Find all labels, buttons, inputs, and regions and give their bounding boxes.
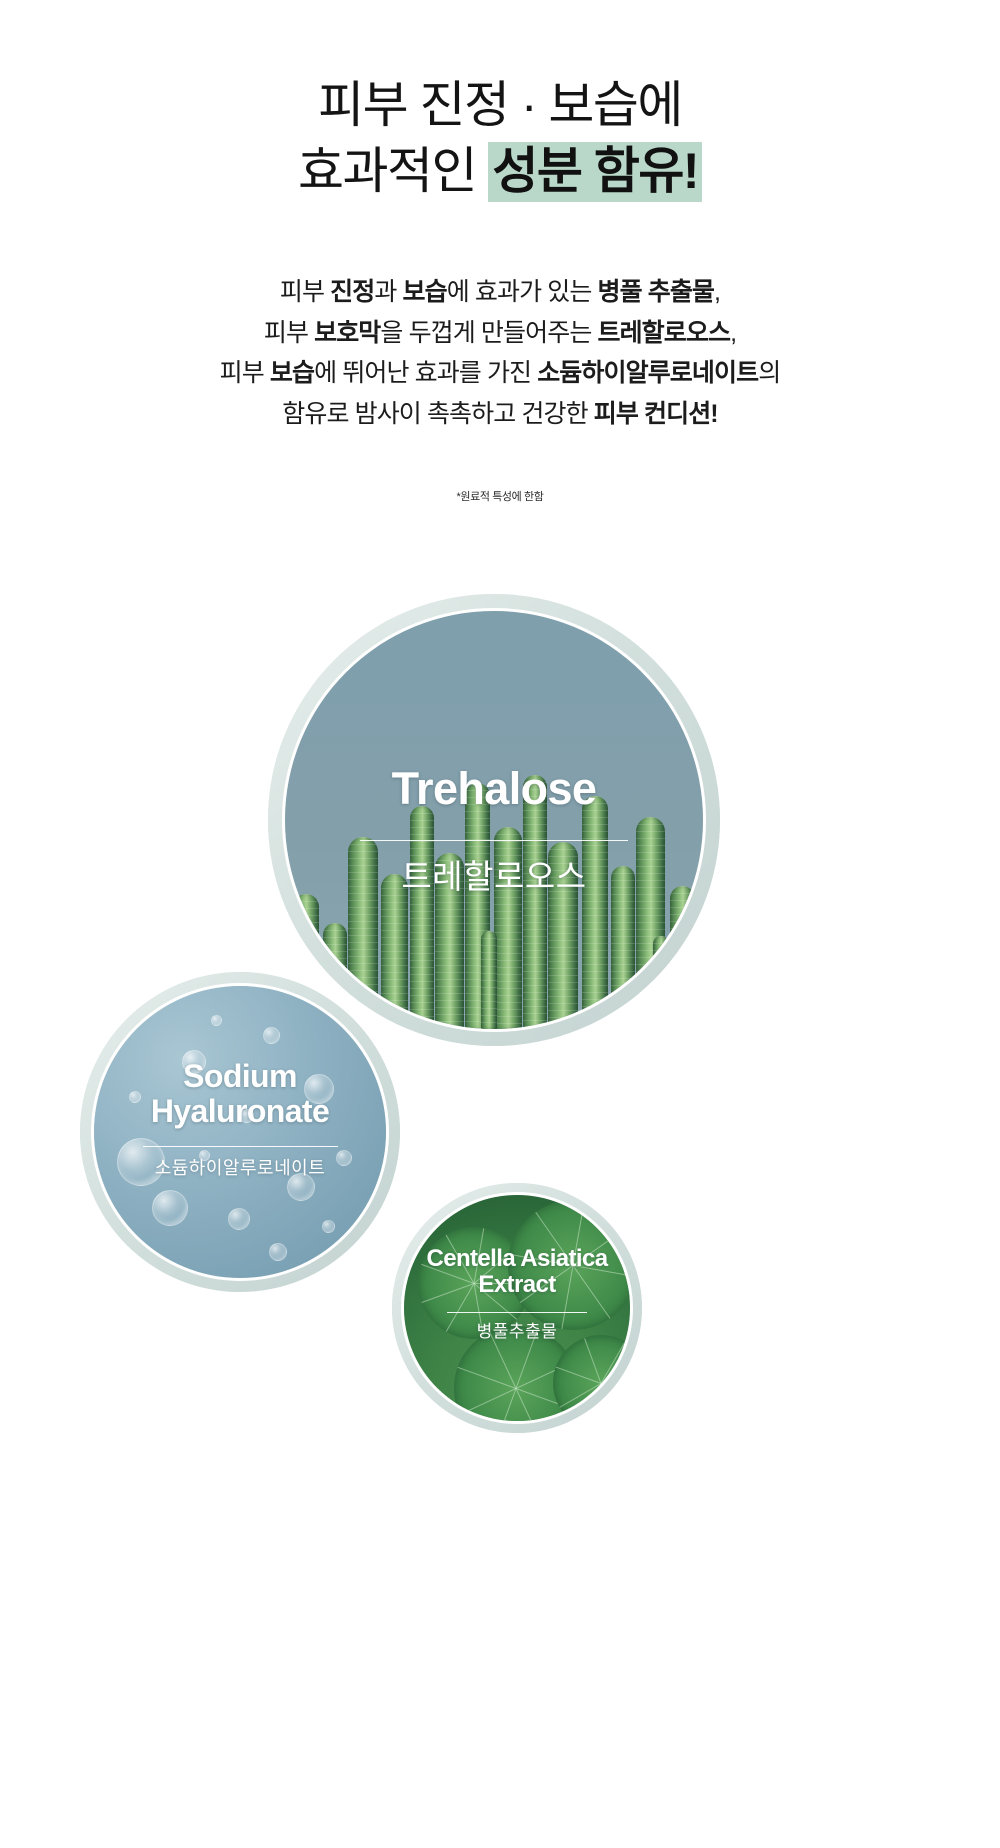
- circle-en-name-line1: Centella Asiatica: [392, 1246, 642, 1272]
- ingredient-circle-trehalose[interactable]: Trehalose 트레할로오스: [268, 594, 720, 1046]
- desc3-c: 에 뛰어난 효과를 가진: [314, 359, 537, 387]
- circle-en-name-line2: Hyaluronate: [80, 1094, 400, 1129]
- circle-ko-name: 트레할로오스: [268, 857, 720, 897]
- headline-highlight: 성분 함유!: [488, 142, 702, 202]
- desc4-a: 함유로 밤사이 촉촉하고 건강한: [282, 400, 594, 428]
- circle-label-trehalose: Trehalose 트레할로오스: [268, 764, 720, 896]
- circle-ko-name: 소듐하이알루로네이트: [80, 1158, 400, 1180]
- desc1-e: ,: [714, 278, 720, 306]
- description-line-3: 피부 보습에 뛰어난 효과를 가진 소듐하이알루로네이트의: [0, 353, 1000, 394]
- headline-line-2: 효과적인 성분 함유!: [0, 138, 1000, 204]
- desc1-d: 에 효과가 있는: [447, 278, 598, 306]
- headline-line-1: 피부 진정 · 보습에: [0, 72, 1000, 138]
- desc1-a: 피부: [280, 278, 330, 306]
- headline-line-1-text: 피부 진정 · 보습에: [318, 77, 682, 133]
- circle-divider: [143, 1146, 338, 1147]
- circle-ko-name: 병풀추출물: [392, 1322, 642, 1342]
- desc3-d: 의: [758, 359, 780, 387]
- desc4-b1: 피부 컨디션!: [594, 400, 718, 428]
- desc2-b1: 보호막: [314, 319, 380, 347]
- description-block: 피부 진정과 보습에 효과가 있는 병풀 추출물, 피부 보호막을 두껍게 만들…: [0, 272, 1000, 434]
- description-line-2: 피부 보호막을 두껍게 만들어주는 트레할로오스,: [0, 313, 1000, 354]
- circle-divider: [447, 1312, 587, 1313]
- desc1-b2: 보습: [403, 278, 447, 306]
- circle-en-name-line2: Extract: [392, 1272, 642, 1298]
- footnote-text: *원료적 특성에 한함: [0, 488, 1000, 504]
- headline-line-2-prefix: 효과적인: [298, 143, 488, 199]
- circle-label-centella-asiatica: Centella Asiatica Extract 병풀추출물: [392, 1246, 642, 1342]
- ingredient-circle-centella-asiatica[interactable]: Centella Asiatica Extract 병풀추출물: [392, 1183, 642, 1433]
- desc2-b2: 트레할로오스: [597, 319, 730, 347]
- desc3-b1: 보습: [270, 359, 314, 387]
- page-title: 피부 진정 · 보습에 효과적인 성분 함유!: [0, 72, 1000, 204]
- desc2-c: 을 두껍게 만들어주는: [380, 319, 597, 347]
- desc1-c: 과: [374, 278, 402, 306]
- desc2-d: ,: [730, 319, 736, 347]
- desc1-b3: 병풀 추출물: [597, 278, 714, 306]
- desc2-a: 피부: [264, 319, 314, 347]
- description-line-4: 함유로 밤사이 촉촉하고 건강한 피부 컨디션!: [0, 394, 1000, 435]
- description-line-1: 피부 진정과 보습에 효과가 있는 병풀 추출물,: [0, 272, 1000, 313]
- desc1-b1: 진정: [330, 278, 374, 306]
- desc3-b2: 소듐하이알루로네이트: [537, 359, 758, 387]
- circle-label-sodium-hyaluronate: Sodium Hyaluronate 소듐하이알루로네이트: [80, 1059, 400, 1180]
- circle-divider: [360, 840, 628, 841]
- circle-en-name: Trehalose: [268, 764, 720, 814]
- circle-en-name-line1: Sodium: [80, 1059, 400, 1094]
- desc3-a: 피부: [220, 359, 270, 387]
